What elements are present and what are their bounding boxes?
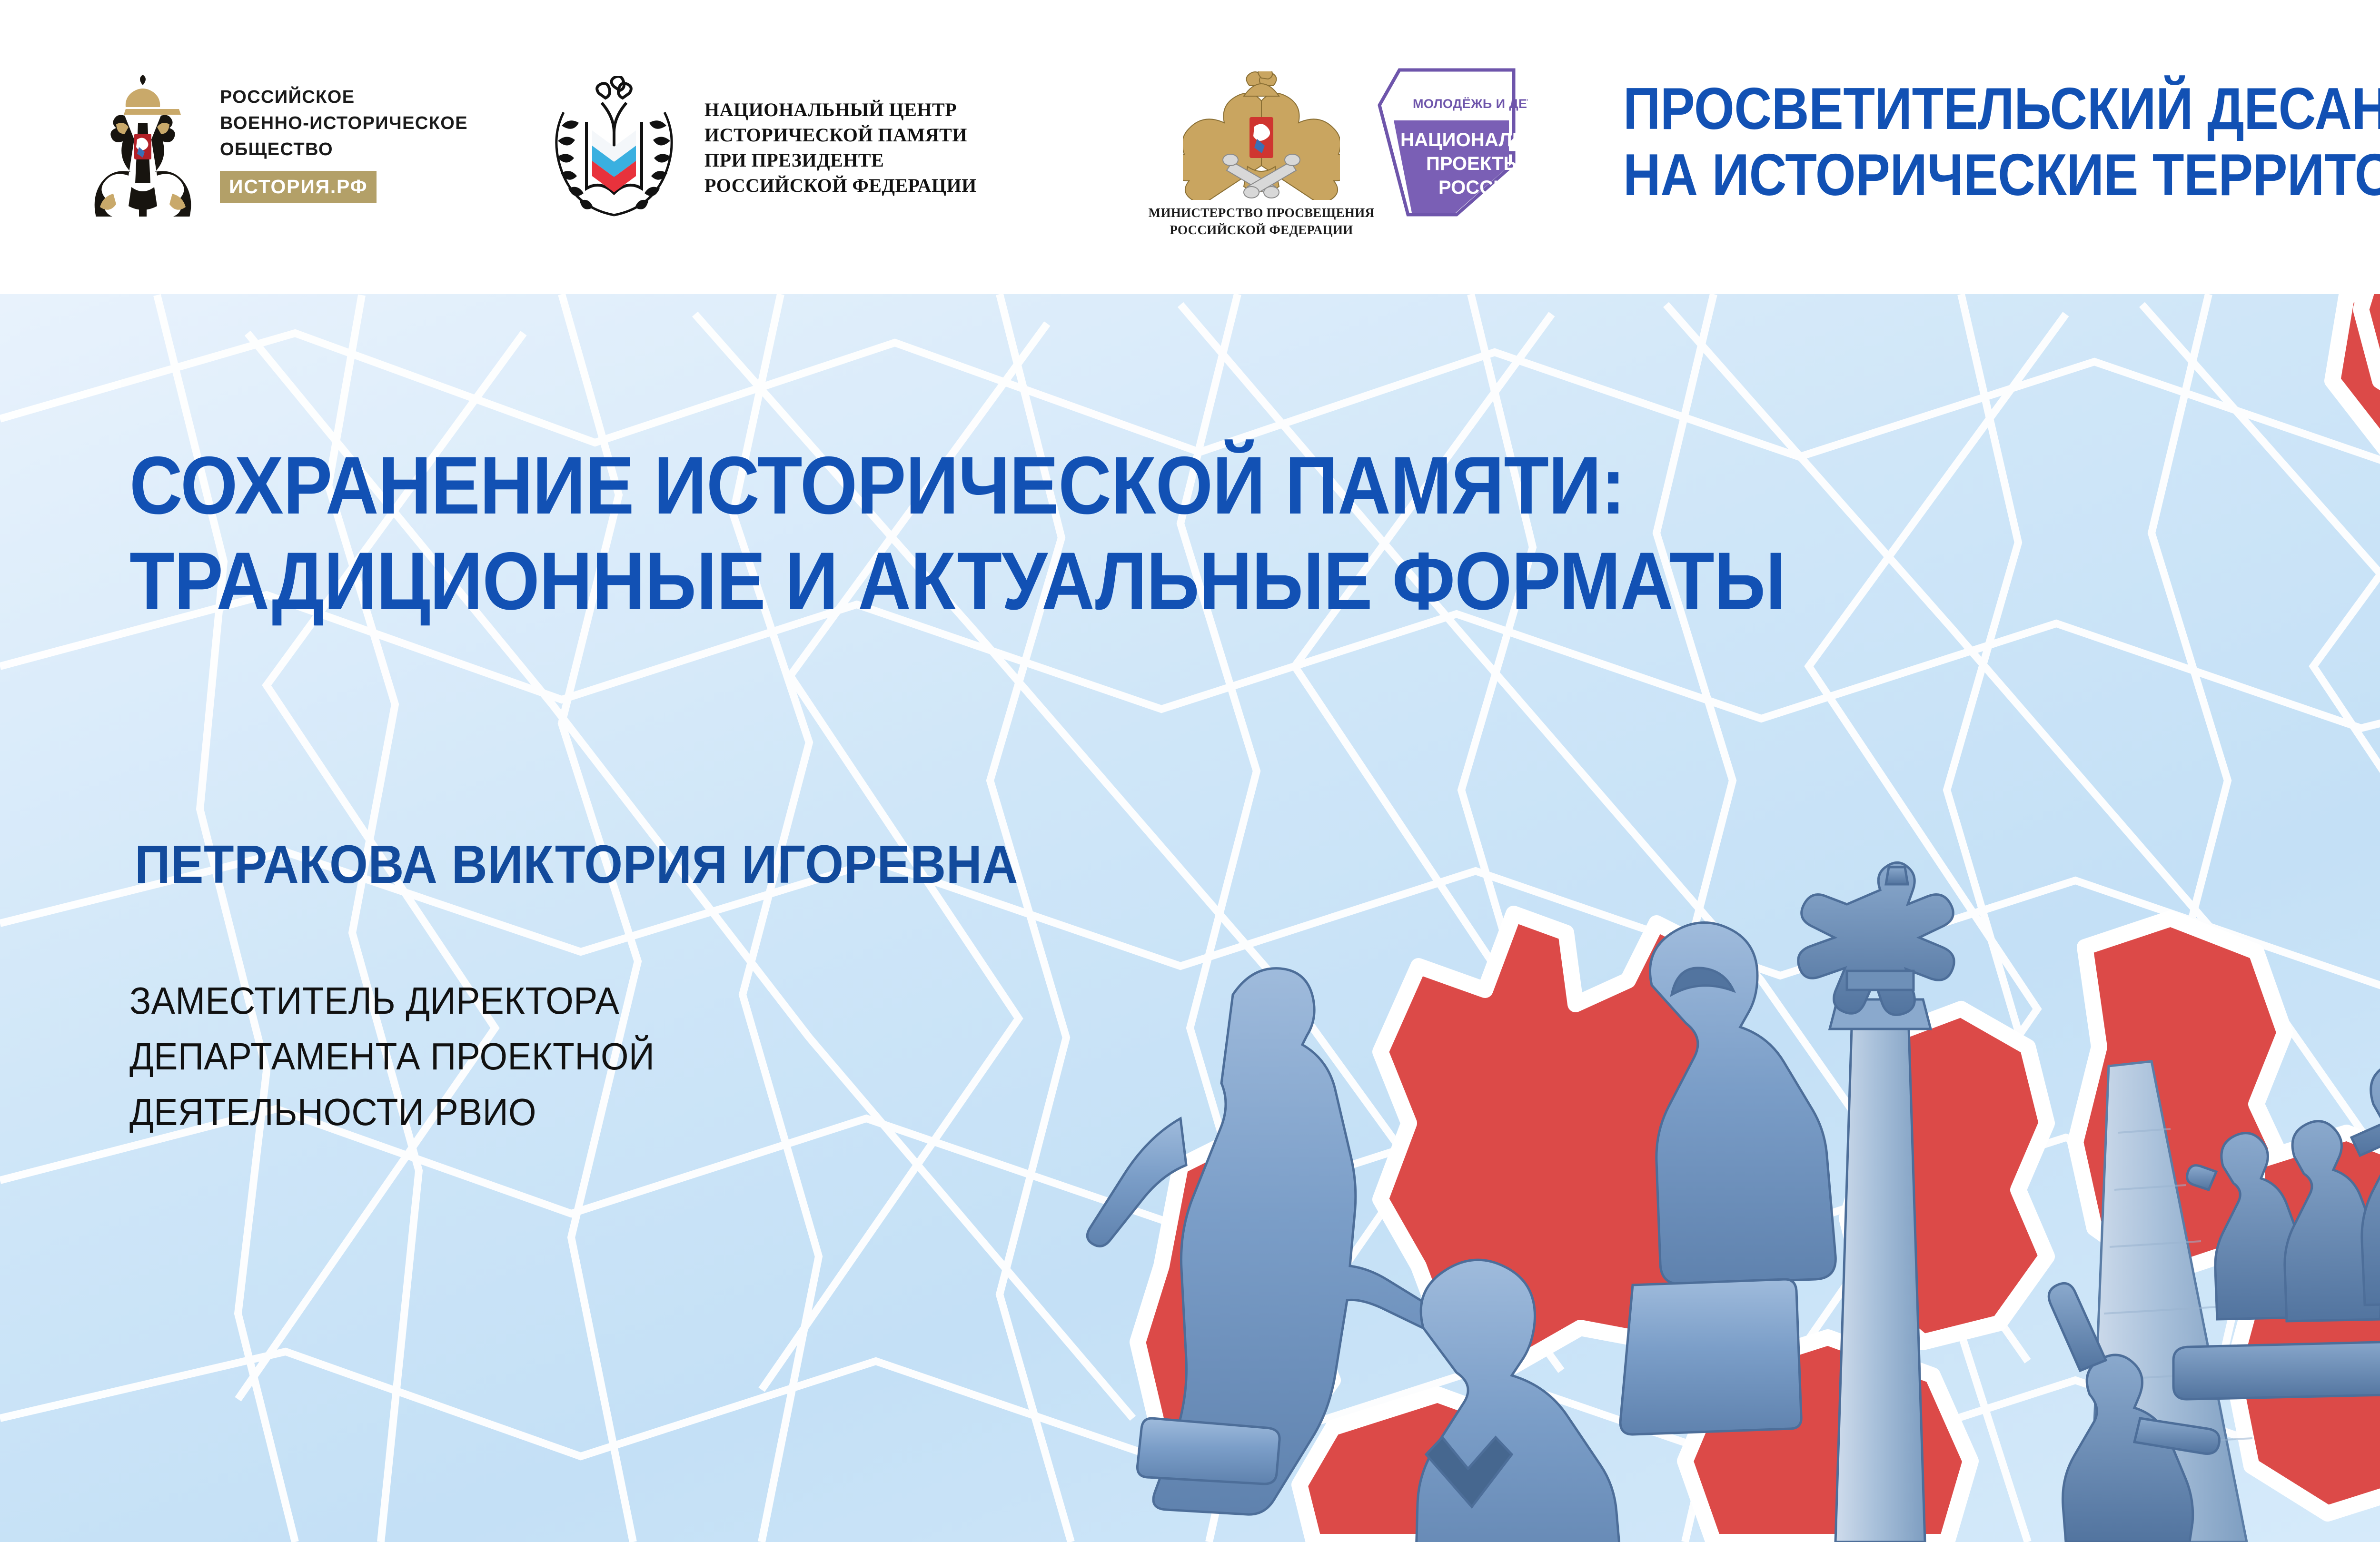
np-line-2: ПРОЕКТЫ (1426, 153, 1522, 174)
header-title-line-1: ПРОСВЕТИТЕЛЬСКИЙ ДЕСАНТ (1623, 76, 2380, 142)
logo-national-center: НАЦИОНАЛЬНЫЙ ЦЕНТР ИСТОРИЧЕСКОЙ ПАМЯТИ П… (543, 76, 977, 219)
rvio-line-2: ВОЕННО-ИСТОРИЧЕСКОЕ (220, 114, 468, 132)
logo-national-projects: МОЛОДЁЖЬ И ДЕТИ НАЦИОНАЛЬНЫЕ ПРОЕКТЫ РОС… (1371, 64, 1528, 217)
header-title-line-2: НА ИСТОРИЧЕСКИЕ ТЕРРИТОРИИ (1623, 142, 2380, 208)
ministry-line-1: МИНИСТЕРСТВО ПРОСВЕЩЕНИЯ (1149, 207, 1375, 219)
np-line-1: НАЦИОНАЛЬНЫЕ (1400, 129, 1528, 150)
nc-line-4: РОССИЙСКОЙ ФЕДЕРАЦИИ (704, 176, 977, 195)
main-title-line-1: СОХРАНЕНИЕ ИСТОРИЧЕСКОЙ ПАМЯТИ: (129, 438, 1785, 534)
page-title: СОХРАНЕНИЕ ИСТОРИЧЕСКОЙ ПАМЯТИ: ТРАДИЦИО… (129, 438, 1785, 629)
presentation-slide: РОССИЙСКОЕ ВОЕННО-ИСТОРИЧЕСКОЕ ОБЩЕСТВО … (0, 0, 2380, 1542)
rvio-line-3: ОБЩЕСТВО (220, 140, 468, 158)
speaker-role-line-1: ЗАМЕСТИТЕЛЬ ДИРЕКТОРА (129, 973, 654, 1029)
header-program-title: ПРОСВЕТИТЕЛЬСКИЙ ДЕСАНТ НА ИСТОРИЧЕСКИЕ … (1623, 76, 2380, 208)
nc-line-2: ИСТОРИЧЕСКОЙ ПАМЯТИ (704, 126, 977, 145)
np-line-3: РОССИИ (1438, 177, 1521, 198)
main-title-line-2: ТРАДИЦИОННЫЕ И АКТУАЛЬНЫЕ ФОРМАТЫ (129, 534, 1785, 629)
logo-rvio-text: РОССИЙСКОЕ ВОЕННО-ИСТОРИЧЕСКОЕ ОБЩЕСТВО … (220, 88, 468, 203)
logo-rvio: РОССИЙСКОЕ ВОЕННО-ИСТОРИЧЕСКОЕ ОБЩЕСТВО … (86, 74, 468, 217)
speaker-role-line-3: ДЕЯТЕЛЬНОСТИ РВИО (129, 1085, 654, 1140)
nc-line-1: НАЦИОНАЛЬНЫЙ ЦЕНТР (704, 100, 977, 119)
laurel-wreath-book-icon (543, 76, 685, 219)
ministry-line-2: РОССИЙСКОЙ ФЕДЕРАЦИИ (1170, 224, 1353, 237)
np-tagline: МОЛОДЁЖЬ И ДЕТИ (1413, 97, 1528, 111)
logo-ministry-text: МИНИСТЕРСТВО ПРОСВЕЩЕНИЯ РОССИЙСКОЙ ФЕДЕ… (1149, 207, 1375, 237)
istoria-rf-badge: ИСТОРИЯ.РФ (220, 171, 377, 203)
rvio-line-1: РОССИЙСКОЕ (220, 88, 468, 106)
golden-eagle-icon (1183, 71, 1340, 200)
nc-line-3: ПРИ ПРЕЗИДЕНТЕ (704, 151, 977, 170)
speaker-role-line-2: ДЕПАРТАМЕНТА ПРОЕКТНОЙ (129, 1029, 654, 1085)
slide-header: РОССИЙСКОЕ ВОЕННО-ИСТОРИЧЕСКОЕ ОБЩЕСТВО … (0, 0, 2380, 294)
double-headed-eagle-icon (86, 74, 200, 217)
speaker-name: ПЕТРАКОВА ВИКТОРИЯ ИГОРЕВНА (135, 838, 1018, 891)
logo-national-center-text: НАЦИОНАЛЬНЫЙ ЦЕНТР ИСТОРИЧЕСКОЙ ПАМЯТИ П… (704, 100, 977, 195)
speaker-role: ЗАМЕСТИТЕЛЬ ДИРЕКТОРА ДЕПАРТАМЕНТА ПРОЕК… (129, 973, 654, 1140)
